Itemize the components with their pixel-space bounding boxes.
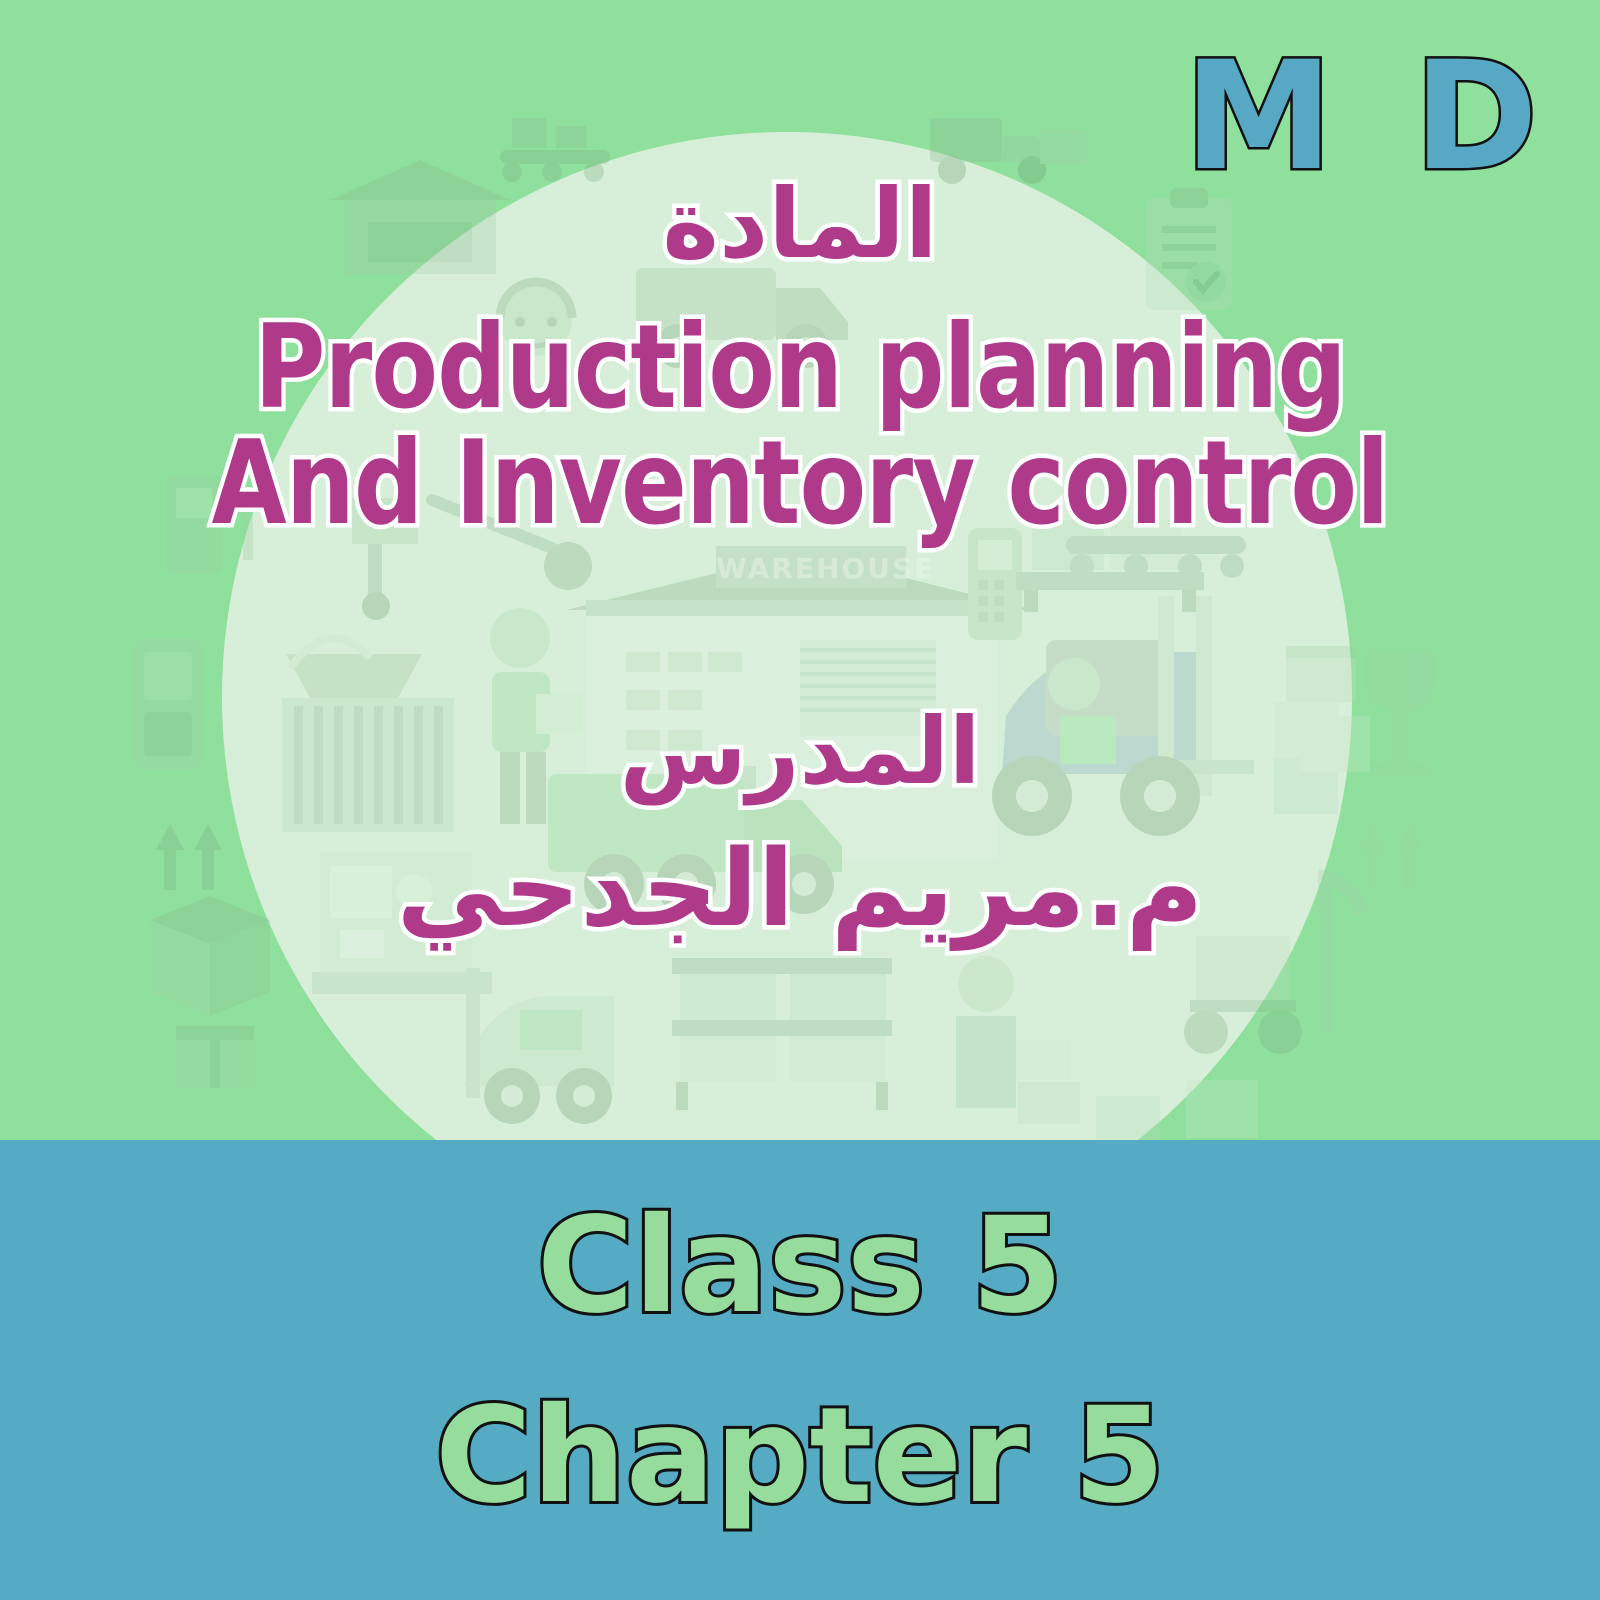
storage-rack-icon: [672, 958, 892, 1110]
shipping-box-icon: [176, 1026, 254, 1088]
course-title: Production planning And Inventory contro…: [0, 310, 1600, 542]
instructor-name-arabic: م.مريم الجدحي: [0, 836, 1600, 942]
warehouse-sign-text: WAREHOUSE: [716, 552, 906, 585]
title-slide: WAREHOUSE M D المادة Production planning…: [0, 0, 1600, 1600]
chapter-number: Chapter 5: [0, 1390, 1600, 1522]
delivery-truck-icon: [930, 118, 1086, 184]
conveyor-belt-icon: [500, 118, 610, 182]
shipping-box-icon: [1096, 1080, 1258, 1140]
course-title-line-2: And Inventory control: [56, 426, 1544, 542]
course-title-line-1: Production planning: [56, 310, 1544, 426]
worker-person-icon: [956, 956, 1080, 1124]
instructor-label-arabic: المدرس: [0, 706, 1600, 798]
md-monogram: M D: [1184, 42, 1552, 192]
class-number: Class 5: [0, 1200, 1600, 1332]
